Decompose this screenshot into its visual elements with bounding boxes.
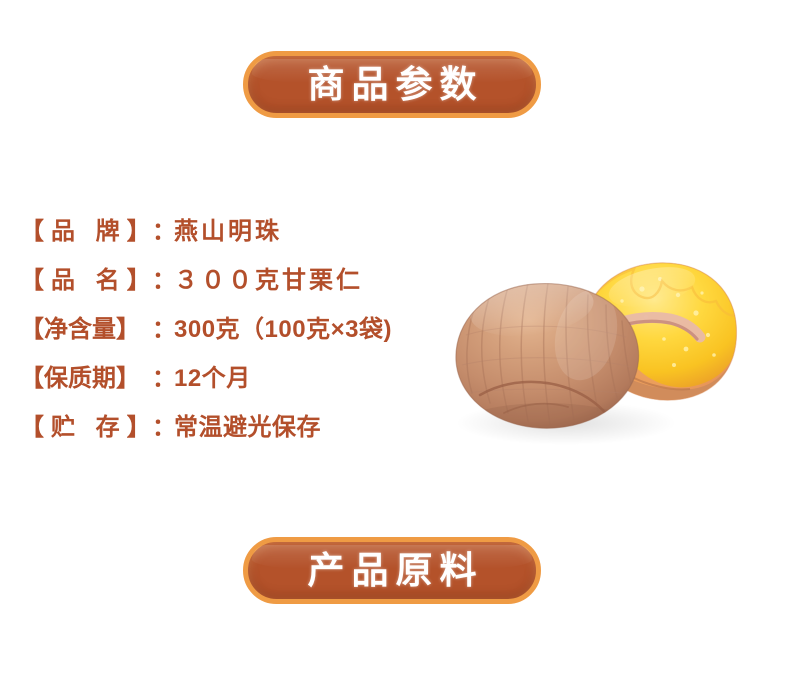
banner-title-text: 产品原料	[301, 552, 484, 589]
spec-separator: ：	[152, 260, 174, 295]
spec-separator: ：	[152, 309, 174, 344]
spec-separator: ：	[152, 407, 174, 442]
spec-row: 【贮 存】 ： 常温避光保存	[20, 400, 460, 449]
spec-value-shelf-life: 12个月	[174, 358, 251, 393]
spec-row: 【净含量】 ： 300克（100克×3袋)	[20, 302, 460, 351]
spec-label-brand: 【品 牌】	[20, 211, 152, 246]
spec-label-product-name: 【品 名】	[20, 260, 152, 295]
product-spec-list: 【品 牌】 ： 燕山明珠 【品 名】 ： ３００克甘栗仁 【净含量】 ： 300…	[20, 204, 460, 449]
spec-row: 【保质期】 ： 12个月	[20, 351, 460, 400]
spec-separator: ：	[152, 211, 174, 246]
spec-value-brand: 燕山明珠	[174, 211, 282, 246]
section-banner-product-ingredients: 产品原料	[243, 537, 541, 604]
spec-value-storage: 常温避光保存	[174, 407, 321, 442]
spec-label-net-content: 【净含量】	[20, 309, 152, 344]
banner-title-text: 商品参数	[301, 66, 484, 103]
spec-label-storage: 【贮 存】	[20, 407, 152, 442]
spec-label-shelf-life: 【保质期】	[20, 358, 152, 393]
spec-row: 【品 名】 ： ３００克甘栗仁	[20, 253, 460, 302]
spec-row: 【品 牌】 ： 燕山明珠	[20, 204, 460, 253]
spec-value-product-name: ３００克甘栗仁	[174, 260, 363, 295]
spec-separator: ：	[152, 358, 174, 393]
spec-value-net-content: 300克（100克×3袋)	[174, 309, 392, 344]
chestnut-illustration	[446, 243, 746, 448]
product-photo-chestnuts	[446, 243, 746, 448]
section-banner-product-specs: 商品参数	[243, 51, 541, 118]
